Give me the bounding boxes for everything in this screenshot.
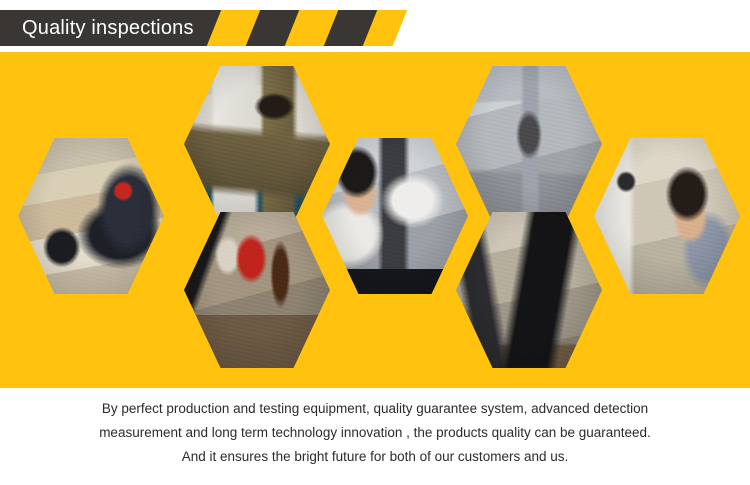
hexagon-photo-hardness-tester[interactable] [594,138,740,294]
photo-vignette-overlay [456,66,602,222]
hexagon-photo-ultrasonic-inspection[interactable] [18,138,164,294]
quality-inspections-banner: Quality inspections [0,0,750,485]
photo-vignette-overlay [322,138,468,294]
hexagon-photo-microscope-analysis[interactable] [322,138,468,294]
hexagon-photo-weld-strength-test[interactable] [184,212,330,368]
caption-line-3: And it ensures the bright future for bot… [0,449,750,464]
caption-block: By perfect production and testing equipm… [0,392,750,485]
photo-vignette-overlay [184,66,330,222]
hexagon-photo-tensile-testing-machine[interactable] [184,66,330,222]
header-band: Quality inspections [0,10,690,46]
photo-vignette-overlay [18,138,164,294]
photo-gallery-stage [0,52,750,388]
photo-vignette-overlay [184,212,330,368]
page-title: Quality inspections [22,16,194,40]
photo-vignette-overlay [594,138,740,294]
caption-line-1: By perfect production and testing equipm… [0,401,750,416]
caption-line-2: measurement and long term technology inn… [0,425,750,440]
hexagon-photo-impact-test-fixture[interactable] [456,212,602,368]
hexagon-photo-hydraulic-press[interactable] [456,66,602,222]
photo-vignette-overlay [456,212,602,368]
